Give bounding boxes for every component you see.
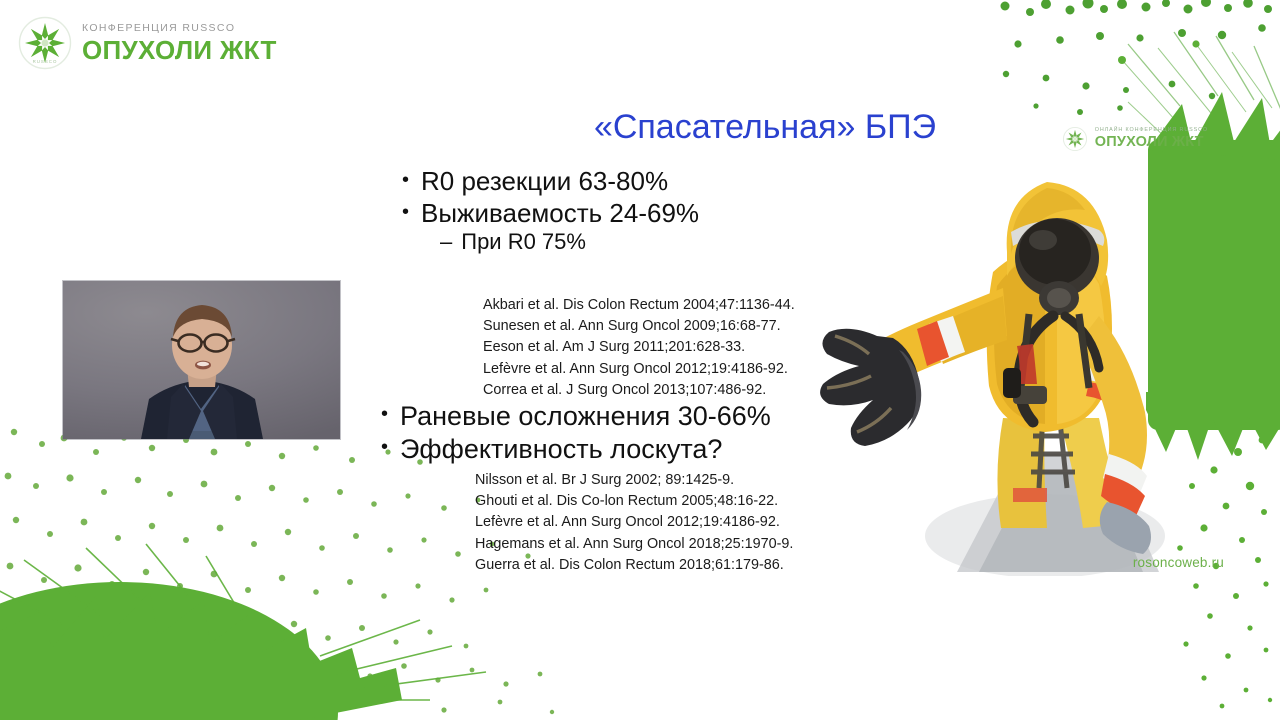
- bullet-text: Эффективность лоскута?: [400, 433, 722, 466]
- bullet-marker: •: [402, 198, 409, 230]
- reference-line: Guerra et al. Dis Colon Rectum 2018;61:1…: [475, 555, 793, 576]
- slide-watermark-logo: ОНЛАЙН КОНФЕРЕНЦИЯ RUSSCO ОПУХОЛИ ЖКТ: [1062, 126, 1208, 152]
- bullet-text: R0 резекции 63-80%: [421, 166, 668, 198]
- reference-line: Eeson et al. Am J Surg 2011;201:628-33.: [483, 337, 795, 358]
- bullet-item: • Раневые осложнения 30-66%: [381, 400, 771, 433]
- reference-line: Lefèvre et al. Ann Surg Oncol 2012;19:41…: [483, 359, 795, 380]
- sub-bullet-marker: –: [440, 229, 452, 256]
- bullet-marker: •: [381, 433, 388, 466]
- slide-content: «Спасательная» БПЭ • R0 резекции 63-80% …: [355, 92, 1260, 612]
- bullet-item: • Эффективность лоскута?: [381, 433, 771, 466]
- reference-line: Hagemans et al. Ann Surg Oncol 2018;25:1…: [475, 534, 793, 555]
- watermark-kicker: ОНЛАЙН КОНФЕРЕНЦИЯ RUSSCO: [1095, 128, 1208, 133]
- logo-kicker: КОНФЕРЕНЦИЯ RUSSCO: [82, 23, 277, 34]
- presentation-screen: RUSSCO КОНФЕРЕНЦИЯ RUSSCO ОПУХОЛИ ЖКТ: [0, 0, 1280, 720]
- sub-bullet-text: При R0 75%: [461, 229, 586, 256]
- reference-line: Akbari et al. Dis Colon Rectum 2004;47:1…: [483, 295, 795, 316]
- reference-line: Sunesen et al. Ann Surg Oncol 2009;16:68…: [483, 316, 795, 337]
- firefighter-reaching-hand-photo: [807, 136, 1207, 576]
- russco-starburst-icon: RUSSCO: [18, 16, 72, 70]
- reference-line: Lefèvre et al. Ann Surg Oncol 2012;19:41…: [475, 512, 793, 533]
- bullet-item: • R0 резекции 63-80%: [402, 166, 699, 198]
- presenter-video-feed[interactable]: [63, 281, 340, 439]
- reference-list-two: Nilsson et al. Br J Surg 2002; 89:1425-9…: [475, 470, 793, 576]
- bullet-text: Выживаемость 24-69%: [421, 198, 699, 230]
- russco-starburst-icon: [1062, 126, 1088, 152]
- bullet-text: Раневые осложнения 30-66%: [400, 400, 771, 433]
- reference-list-one: Akbari et al. Dis Colon Rectum 2004;47:1…: [483, 295, 795, 401]
- slide-url-label: rosoncoweb.ru: [1133, 555, 1224, 570]
- bullet-marker: •: [402, 166, 409, 198]
- logo-brand: ОПУХОЛИ ЖКТ: [82, 37, 277, 63]
- svg-text:RUSSCO: RUSSCO: [33, 59, 58, 64]
- presenter-figure: [63, 281, 340, 439]
- watermark-brand: ОПУХОЛИ ЖКТ: [1095, 135, 1208, 150]
- bullet-list-mid: • Раневые осложнения 30-66% • Эффективно…: [381, 400, 771, 466]
- conference-logo: RUSSCO КОНФЕРЕНЦИЯ RUSSCO ОПУХОЛИ ЖКТ: [18, 16, 277, 70]
- reference-line: Nilsson et al. Br J Surg 2002; 89:1425-9…: [475, 470, 793, 491]
- bullet-marker: •: [381, 400, 388, 433]
- reference-line: Correa et al. J Surg Oncol 2013;107:486-…: [483, 380, 795, 401]
- reference-line: Ghouti et al. Dis Co-lon Rectum 2005;48:…: [475, 491, 793, 512]
- bullet-item: • Выживаемость 24-69%: [402, 198, 699, 230]
- bullet-list-top: • R0 резекции 63-80% • Выживаемость 24-6…: [402, 166, 699, 256]
- sub-bullet-item: – При R0 75%: [440, 229, 699, 256]
